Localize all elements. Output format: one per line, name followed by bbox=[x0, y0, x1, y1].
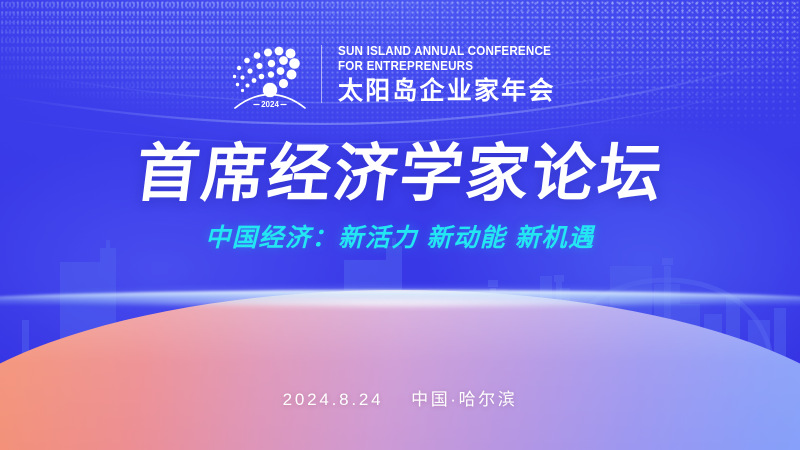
header-logo-block: 2024 SUN ISLAND ANNUAL CONFERENCE FOR EN… bbox=[0, 38, 800, 110]
event-date: 2024.8.24 bbox=[283, 390, 384, 409]
conference-poster: 2024 SUN ISLAND ANNUAL CONFERENCE FOR EN… bbox=[0, 0, 800, 450]
footer-block: 2024.8.24 中国·哈尔滨 bbox=[0, 385, 800, 410]
sunburst-dots-logo-icon: 2024 bbox=[233, 38, 307, 110]
logo-text-block: SUN ISLAND ANNUAL CONFERENCE FOR ENTREPR… bbox=[338, 44, 567, 105]
conference-chinese-name: 太阳岛企业家年会 bbox=[338, 79, 567, 104]
page-subtitle: 中国经济：新活力 新动能 新机遇 bbox=[0, 226, 800, 251]
english-line-1: SUN ISLAND ANNUAL CONFERENCE bbox=[338, 44, 551, 59]
logo-divider bbox=[321, 45, 322, 103]
event-location: 中国·哈尔滨 bbox=[411, 390, 517, 409]
conference-english-name: SUN ISLAND ANNUAL CONFERENCE FOR ENTREPR… bbox=[338, 44, 551, 75]
event-info-line: 2024.8.24 中国·哈尔滨 bbox=[283, 385, 518, 410]
english-line-2: FOR ENTREPRENEURS bbox=[338, 59, 551, 74]
title-block: 首席经济学家论坛 中国经济：新活力 新动能 新机遇 bbox=[0, 143, 800, 251]
page-title: 首席经济学家论坛 bbox=[132, 143, 668, 206]
logo-year-text: 2024 bbox=[261, 100, 279, 109]
